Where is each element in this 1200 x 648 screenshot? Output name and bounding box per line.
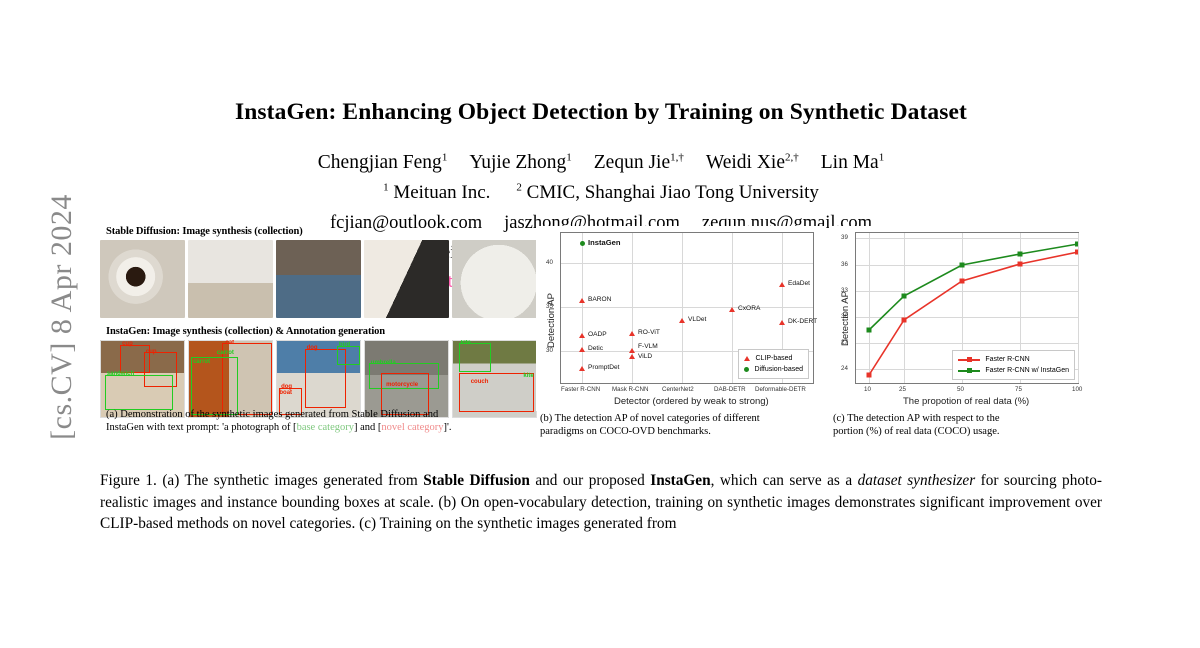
thumbnail-cake-spoon — [452, 240, 537, 318]
author-affil-marker: 2,† — [785, 151, 799, 163]
series-marker-faster-rcnn — [902, 318, 907, 323]
legend-item-diffusion: Diffusion-based — [744, 364, 803, 375]
instagen-image-strip: cup cup sandwich cat carrot carrot dog — [100, 340, 540, 418]
point-label-baron: BARON — [588, 296, 611, 303]
point-detic — [579, 347, 585, 352]
xtick-label: 75 — [1015, 386, 1022, 393]
series-line-instagen — [869, 244, 1078, 330]
caption-b-line2: paradigms on COCO-OVD benchmarks. — [540, 426, 711, 437]
bbox-label-sandwich: sandwich — [107, 371, 134, 377]
bbox-label-kite-2: kite — [523, 373, 533, 379]
clip-marker-icon — [744, 356, 750, 361]
ytick-label: 40 — [546, 259, 553, 266]
thumbnail-umbrella-motorcycle: umbrella motorcycle — [364, 340, 449, 418]
bbox-label-boat: boat — [279, 390, 292, 396]
thumbnail-carrot-cat: cat carrot carrot — [188, 340, 273, 418]
figure-caption-prefix: Figure 1. — [100, 472, 157, 489]
plot-c-yaxis-title: Detection AP — [840, 291, 851, 346]
thumbnail-cake-bird — [276, 240, 361, 318]
point-label-vldet: VLDet — [688, 316, 706, 323]
bbox-carrot — [191, 357, 237, 415]
xtick-label: 100 — [1072, 386, 1082, 393]
xtick-label: 25 — [899, 386, 906, 393]
instagen-line-icon — [958, 370, 980, 372]
series-marker-instagen — [902, 294, 907, 299]
point-label-fvlm: F-VLM — [638, 343, 658, 350]
point-label-rovit: RO-ViT — [638, 329, 660, 336]
thumbnail-cup-teapot — [364, 240, 449, 318]
xtick-label: Faster R-CNN — [561, 386, 600, 393]
author: Zequn Jie1,† — [594, 152, 684, 173]
point-instagen — [580, 241, 585, 246]
author: Weidi Xie2,† — [706, 152, 799, 173]
caption-c-line2: portion (%) of real data (COCO) usage. — [833, 426, 1000, 437]
bbox-label-dog-2: dog — [281, 384, 292, 390]
author-list: Chengjian Feng1Yujie Zhong1Zequn Jie1,†W… — [96, 151, 1106, 174]
legend-label-faster-rcnn: Faster R-CNN — [985, 356, 1029, 363]
gridline-v — [632, 233, 633, 383]
thumbnail-coffee-cup — [100, 240, 185, 318]
point-fvlm — [629, 348, 635, 353]
plot-b-xaxis-title: Detector (ordered by weak to strong) — [614, 396, 769, 407]
bbox-label-motorcycle: motorcycle — [386, 382, 418, 388]
bbox-cup-2 — [144, 352, 177, 387]
author: Yujie Zhong1 — [469, 152, 571, 173]
legend-label-diffusion: Diffusion-based — [754, 366, 803, 373]
bbox-label-cup-2: cup — [146, 349, 157, 355]
figure-caption-seg: and our proposed — [530, 472, 650, 489]
author: Chengjian Feng1 — [318, 152, 448, 173]
point-vild — [629, 354, 635, 359]
panel-a-top-header: Stable Diffusion: Image synthesis (colle… — [106, 226, 540, 237]
affiliation-list: 1 Meituan Inc.2 CMIC, Shanghai Jiao Tong… — [96, 182, 1106, 204]
point-cxora — [729, 307, 735, 312]
xtick-label: DAB-DETR — [714, 386, 746, 393]
xtick-label: CenterNet2 — [662, 386, 694, 393]
xtick-label: 10 — [864, 386, 871, 393]
bbox-label-cup: cup — [122, 341, 133, 347]
subfigure-a-caption: (a) Demonstration of the synthetic image… — [106, 408, 538, 435]
point-dkdert — [779, 320, 785, 325]
faster-rcnn-line-icon — [958, 359, 980, 361]
bbox-label-carrot: carrot — [217, 350, 234, 356]
point-rovit — [629, 331, 635, 336]
figure-caption-seg: , which can serve as a — [711, 472, 858, 489]
figure-1-caption: Figure 1. (a) The synthetic images gener… — [100, 470, 1102, 535]
point-oadp — [579, 333, 585, 338]
caption-novel-token: novel category — [381, 422, 443, 433]
bbox-label-carrot-2: carrot — [193, 359, 210, 365]
plot-b-axes: InstaGen BARON OADP Detic PromptDet RO-V… — [560, 232, 814, 384]
plot-c-legend: Faster R-CNN Faster R-CNN w/ InstaGen — [952, 350, 1075, 380]
point-label-edadet: EdaDet — [788, 280, 810, 287]
paper-body: InstaGen: Enhancing Object Detection by … — [96, 0, 1106, 648]
point-label-detic: Detic — [588, 345, 603, 352]
legend-item-faster-rcnn: Faster R-CNN — [958, 354, 1069, 365]
point-label-dkdert: DK-DERT — [788, 318, 817, 325]
xtick-label: Deformable-DETR — [755, 386, 806, 393]
point-baron — [579, 298, 585, 303]
bbox-label-umbrella: umbrella — [371, 360, 396, 366]
thumbnail-cat-refrigerator — [188, 240, 273, 318]
ytick-label: 36 — [841, 261, 848, 268]
point-vldet — [679, 318, 685, 323]
subfigure-c: Faster R-CNN Faster R-CNN w/ InstaGen 39… — [829, 226, 1099, 411]
stable-diffusion-image-strip — [100, 240, 540, 318]
legend-item-instagen: Faster R-CNN w/ InstaGen — [958, 365, 1069, 376]
caption-b-line1: (b) The detection AP of novel categories… — [540, 413, 760, 424]
series-marker-instagen — [1075, 242, 1078, 247]
point-label-instagen: InstaGen — [588, 238, 621, 247]
author: Lin Ma1 — [821, 152, 884, 173]
figure-caption-seg-bold: InstaGen — [650, 472, 710, 489]
plot-c-xaxis-title: The propotion of real data (%) — [903, 396, 1029, 407]
legend-label-instagen: Faster R-CNN w/ InstaGen — [985, 367, 1069, 374]
series-marker-faster-rcnn — [1075, 250, 1078, 255]
subfigure-a: Stable Diffusion: Image synthesis (colle… — [100, 226, 540, 418]
figure-caption-seg: (a) The synthetic images generated from — [162, 472, 423, 489]
series-marker-instagen — [960, 263, 965, 268]
figure-1: Stable Diffusion: Image synthesis (colle… — [96, 226, 1106, 456]
ytick-label: 39 — [841, 234, 848, 241]
ytick-label: 24 — [841, 365, 848, 372]
bbox-label-kite: kite — [461, 340, 471, 346]
caption-a-line1: (a) Demonstration of the synthetic image… — [106, 409, 438, 420]
caption-a-line2: InstaGen with text prompt: 'a photograph… — [106, 422, 452, 433]
caption-c-line1: (c) The detection AP with respect to the — [833, 413, 1000, 424]
point-label-oadp: OADP — [588, 331, 607, 338]
gridline-v — [1078, 233, 1079, 383]
point-label-promptdet: PromptDet — [588, 364, 620, 371]
bbox-label-dog: dog — [307, 345, 318, 351]
point-label-vild: ViLD — [638, 353, 652, 360]
figure-caption-seg-bold: Stable Diffusion — [423, 472, 530, 489]
subfigure-c-caption: (c) The detection AP with respect to the… — [833, 412, 1095, 439]
affiliation: 1 Meituan Inc. — [383, 182, 490, 203]
ytick-label: 30 — [546, 347, 553, 354]
subfigure-b-caption: (b) The detection AP of novel categories… — [540, 412, 830, 439]
arxiv-stamp: [cs.CV] 8 Apr 2024 — [45, 167, 79, 467]
panel-a-bottom-header: InstaGen: Image synthesis (collection) &… — [106, 326, 540, 337]
bbox-sandwich — [105, 375, 173, 410]
xtick-label: Mask R-CNN — [612, 386, 648, 393]
diffusion-marker-icon — [744, 367, 749, 372]
plot-b-legend: CLIP-based Diffusion-based — [738, 349, 809, 379]
caption-base-token: base category — [297, 422, 354, 433]
bbox-label-couch: couch — [471, 379, 489, 385]
author-affil-marker: 1,† — [670, 151, 684, 163]
plot-c-axes: Faster R-CNN Faster R-CNN w/ InstaGen — [855, 232, 1079, 384]
subfigure-b: InstaGen BARON OADP Detic PromptDet RO-V… — [536, 226, 834, 411]
series-marker-faster-rcnn — [1018, 262, 1023, 267]
point-edadet — [779, 282, 785, 287]
affiliation: 2 CMIC, Shanghai Jiao Tong University — [516, 182, 819, 203]
bbox-label-cat: cat — [225, 340, 234, 346]
thumbnail-couch-kite: kite kite couch — [452, 340, 537, 418]
legend-item-clip: CLIP-based — [744, 353, 803, 364]
bbox-bird — [337, 346, 359, 365]
thumbnail-sandwich-cup: cup cup sandwich — [100, 340, 185, 418]
gridline-h — [561, 307, 813, 308]
author-affil-marker: 1 — [566, 151, 572, 163]
bbox-dog — [305, 349, 346, 407]
legend-label-clip: CLIP-based — [755, 355, 792, 362]
author-affil-marker: 1 — [442, 151, 448, 163]
author-affil-marker: 1 — [879, 151, 885, 163]
gridline-v — [682, 233, 683, 383]
scatter-plot-b: InstaGen BARON OADP Detic PromptDet RO-V… — [536, 226, 826, 411]
series-marker-instagen — [1018, 252, 1023, 257]
gridline-h — [561, 263, 813, 264]
plot-b-yaxis-title: Detection AP — [546, 293, 557, 348]
series-marker-faster-rcnn — [867, 373, 872, 378]
point-promptdet — [579, 366, 585, 371]
page-title: InstaGen: Enhancing Object Detection by … — [96, 99, 1106, 126]
figure-caption-seg-italic: dataset synthesizer — [858, 472, 976, 489]
series-marker-instagen — [867, 328, 872, 333]
series-marker-faster-rcnn — [960, 279, 965, 284]
point-label-cxora: CxORA — [738, 305, 760, 312]
xtick-label: 50 — [957, 386, 964, 393]
gridline-v — [582, 233, 583, 383]
line-plot-c: Faster R-CNN Faster R-CNN w/ InstaGen 39… — [829, 226, 1091, 411]
thumbnail-dog-boat: dog bird dog boat — [276, 340, 361, 418]
bbox-label-bird: bird — [339, 342, 350, 348]
bbox-kite — [459, 343, 492, 372]
